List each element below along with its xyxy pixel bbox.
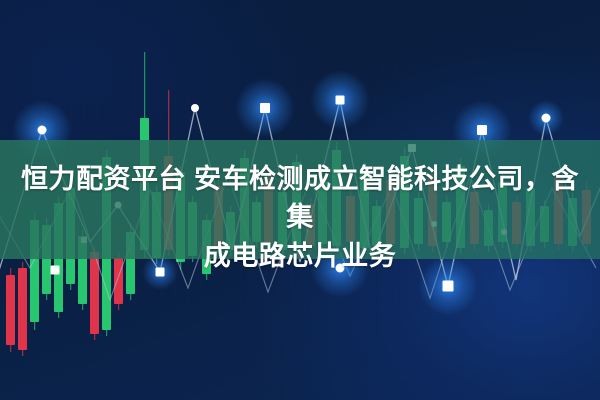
data-point-node: [38, 126, 47, 135]
data-point-node: [336, 96, 345, 105]
banner-image: 恒力配资平台 安车检测成立智能科技公司，含集 成电路芯片业务: [0, 0, 600, 400]
headline-line-2: 成电路芯片业务: [204, 241, 397, 271]
headline-line-1: 恒力配资平台 安车检测成立智能科技公司，含集: [21, 164, 579, 232]
data-point-node: [260, 103, 270, 113]
data-point-node: [443, 281, 454, 292]
data-point-node: [477, 125, 487, 135]
data-point-node: [542, 114, 551, 123]
data-point-node: [191, 104, 199, 112]
headline-text: 恒力配资平台 安车检测成立智能科技公司，含集 成电路芯片业务: [0, 160, 600, 275]
